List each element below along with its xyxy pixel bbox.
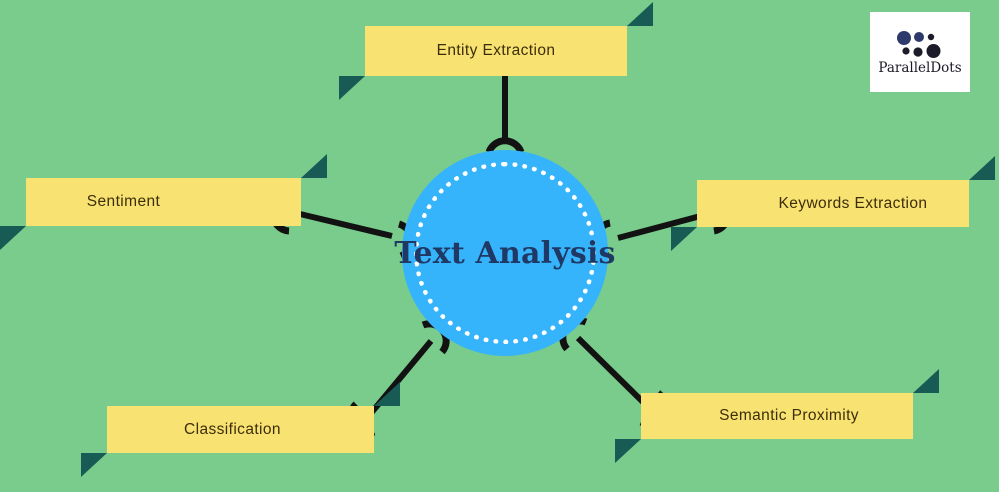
- ribbon-fold-top-right: [301, 154, 327, 178]
- node-semantic-proximity[interactable]: Semantic Proximity: [641, 393, 913, 439]
- node-label-classification: Classification: [107, 406, 374, 453]
- center-node-text-analysis[interactable]: Text Analysis: [402, 150, 608, 356]
- diagram-canvas: Text Analysis Entity Extraction Sentimen…: [0, 0, 999, 492]
- node-entity-extraction[interactable]: Entity Extraction: [365, 26, 627, 76]
- node-label-sentiment: Sentiment: [26, 178, 301, 226]
- node-keywords-extraction[interactable]: Keywords Extraction: [697, 180, 969, 227]
- ribbon-fold-bottom-left: [671, 227, 697, 251]
- node-sentiment[interactable]: Sentiment: [26, 178, 301, 226]
- paralleldots-logo: ParallelDots: [870, 12, 970, 92]
- ribbon-fold-top-right: [627, 2, 653, 26]
- logo-dots-icon: [892, 29, 948, 59]
- node-label-entity-extraction: Entity Extraction: [365, 26, 627, 76]
- ribbon-fold-top-right: [913, 369, 939, 393]
- logo-wordmark: ParallelDots: [878, 60, 961, 76]
- ribbon-fold-bottom-left: [81, 453, 107, 477]
- ribbon-fold-top-right: [969, 156, 995, 180]
- ribbon-fold-bottom-left: [615, 439, 641, 463]
- ribbon-fold-top-right: [374, 382, 400, 406]
- center-node-label: Text Analysis: [402, 150, 608, 356]
- ribbon-fold-bottom-left: [339, 76, 365, 100]
- node-label-semantic-proximity: Semantic Proximity: [641, 393, 913, 439]
- node-label-keywords-extraction: Keywords Extraction: [697, 180, 969, 227]
- node-classification[interactable]: Classification: [107, 406, 374, 453]
- ribbon-fold-bottom-left: [0, 226, 26, 250]
